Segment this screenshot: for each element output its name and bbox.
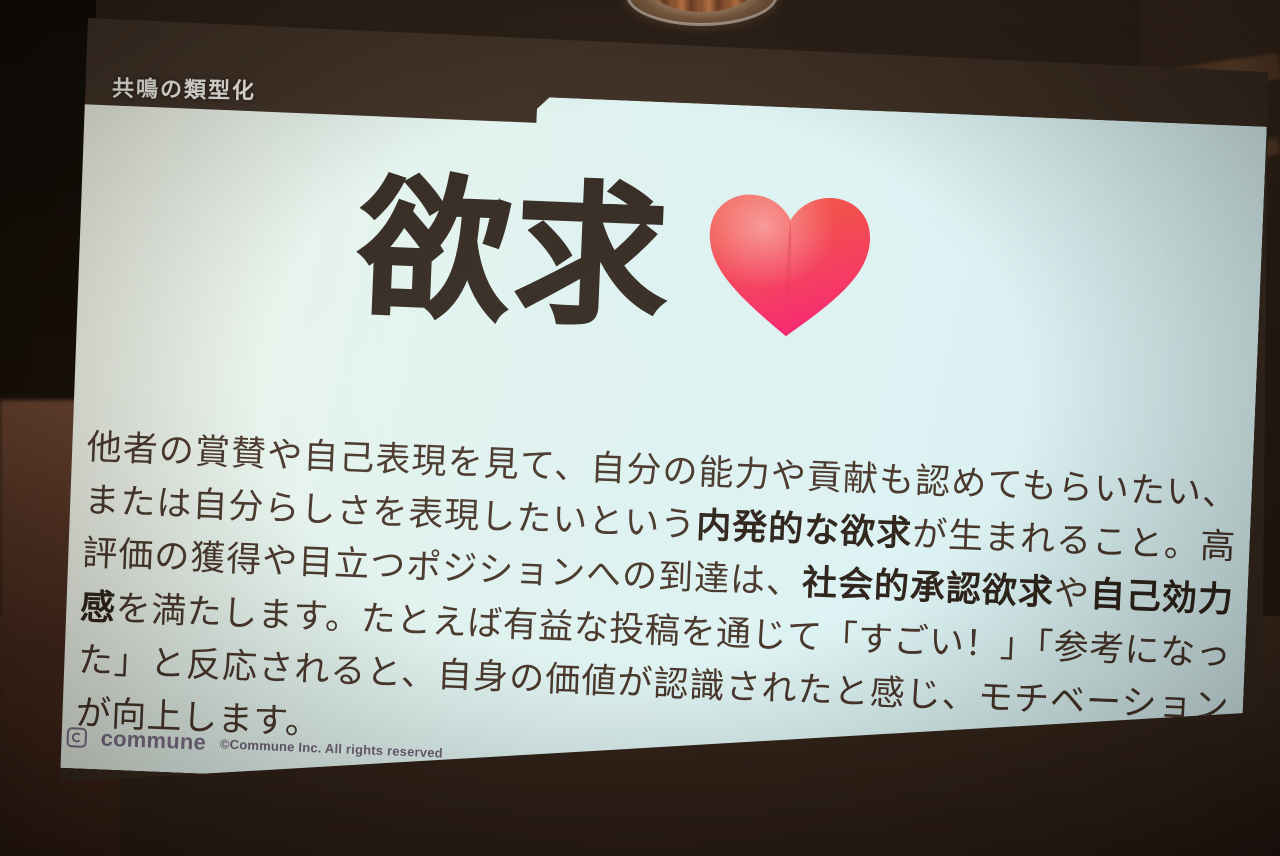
body-segment-4: や	[1053, 574, 1091, 615]
body-segment-1-bold: 内発的な欲求	[695, 506, 913, 555]
commune-logo-wordmark: commune	[100, 726, 206, 756]
commune-logo-icon	[66, 727, 87, 748]
headline-row: 欲求	[356, 172, 876, 345]
copyright-notice: ©Commune Inc. All rights reserved	[220, 736, 443, 760]
slide-content-card: 欲求	[50, 74, 1267, 816]
body-segment-3-bold: 社会的承認欲求	[801, 564, 1055, 614]
slide-header-label: 共鳴の類型化	[112, 71, 257, 106]
page-title: 欲求	[356, 172, 674, 337]
heart-icon	[702, 187, 876, 344]
photographed-room-scene: 共鳴の類型化 欲求	[0, 0, 1280, 856]
